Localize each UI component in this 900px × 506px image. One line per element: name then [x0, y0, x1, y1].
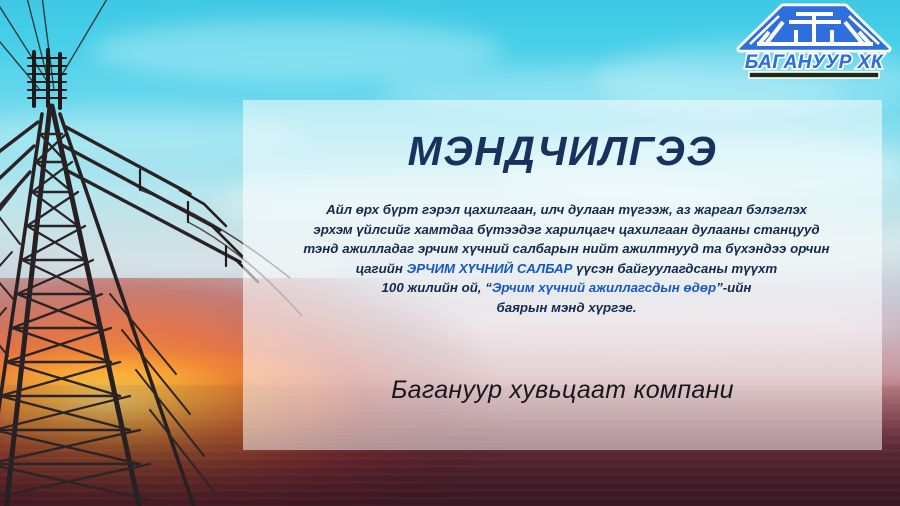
body-line-2: эрхэм үйлсийг хамтдаа бүтээдэг харилцагч… — [269, 220, 864, 240]
logo-base-band — [749, 72, 879, 78]
greeting-slide: БАГАНУУР ХК БАГАНУУР ХК МЭНДЧИЛГЭЭ Айл ө… — [0, 0, 900, 506]
greeting-body: Айл өрх бүрт гэрэл цахилгаан, илч дулаан… — [269, 200, 864, 318]
body-line-4: цагийн ЭРЧИМ ХҮЧНИЙ САЛБАР үүсэн байгуул… — [269, 259, 864, 279]
body-line-1: Айл өрх бүрт гэрэл цахилгаан, илч дулаан… — [269, 200, 864, 220]
content-panel: МЭНДЧИЛГЭЭ Айл өрх бүрт гэрэл цахилгаан,… — [243, 100, 882, 450]
body-line-4-pre: цагийн — [356, 261, 407, 276]
signoff-company: Багануур хувьцаат компани — [243, 376, 882, 405]
highlight-energy-workers-day: Эрчим хүчний ажиллагсдын өдөр — [492, 280, 716, 295]
body-line-3: тэнд ажилладаг эрчим хүчний салбарын ний… — [269, 239, 864, 259]
company-logo: БАГАНУУР ХК БАГАНУУР ХК — [733, 2, 895, 80]
svg-text:БАГАНУУР ХК: БАГАНУУР ХК — [745, 52, 884, 73]
body-line-5: 100 жилийн ой, “Эрчим хүчний ажиллагсдын… — [269, 278, 864, 298]
body-line-6: баярын мэнд хүргэе. — [269, 298, 864, 318]
body-line-5-post: ”-ийн — [716, 280, 751, 295]
body-line-5-pre: 100 жилийн ой, “ — [382, 280, 492, 295]
page-title: МЭНДЧИЛГЭЭ — [243, 128, 882, 175]
body-line-4-post: үүсэн байгуулагдсаны түүхт — [572, 261, 777, 276]
highlight-energy-sector: ЭРЧИМ ХҮЧНИЙ САЛБАР — [407, 261, 573, 276]
